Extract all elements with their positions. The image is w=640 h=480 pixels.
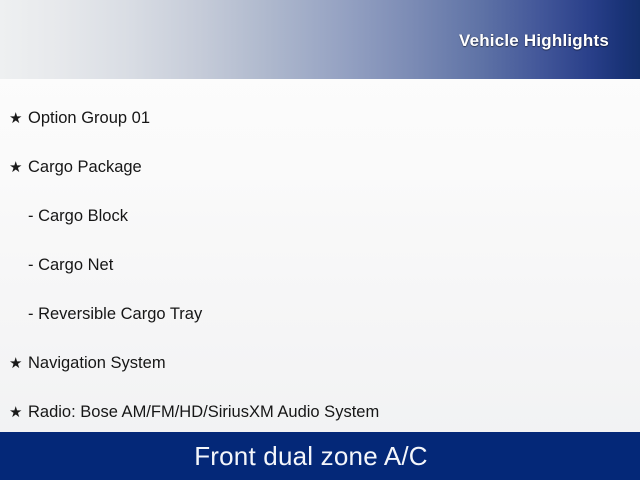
list-item-label: Option Group 01 [28, 109, 150, 128]
list-item: ★ Option Group 01 [0, 94, 640, 143]
list-sub-item: - Cargo Block [0, 192, 640, 241]
list-item-label: Radio: Bose AM/FM/HD/SiriusXM Audio Syst… [28, 403, 379, 422]
list-sub-item-label: - Cargo Net [28, 256, 113, 275]
star-icon: ★ [9, 405, 28, 420]
highlights-list: ★ Option Group 01 ★ Cargo Package - Carg… [0, 79, 640, 432]
footer-caption: Front dual zone A/C [194, 441, 428, 472]
list-item: ★ Radio: Bose AM/FM/HD/SiriusXM Audio Sy… [0, 388, 640, 437]
list-item-label: Navigation System [28, 354, 166, 373]
header-banner: Vehicle Highlights [0, 0, 640, 79]
list-item: ★ Navigation System [0, 339, 640, 388]
footer-bar: Front dual zone A/C [0, 432, 640, 480]
list-item-label: Cargo Package [28, 158, 142, 177]
vehicle-highlights-slide: Vehicle Highlights ★ Option Group 01 ★ C… [0, 0, 640, 480]
list-sub-item-label: - Reversible Cargo Tray [28, 305, 202, 324]
page-title: Vehicle Highlights [459, 31, 609, 51]
star-icon: ★ [9, 356, 28, 371]
star-icon: ★ [9, 160, 28, 175]
list-sub-item-label: - Cargo Block [28, 207, 128, 226]
list-sub-item: - Cargo Net [0, 241, 640, 290]
list-sub-item: - Reversible Cargo Tray [0, 290, 640, 339]
list-item: ★ Cargo Package [0, 143, 640, 192]
star-icon: ★ [9, 111, 28, 126]
